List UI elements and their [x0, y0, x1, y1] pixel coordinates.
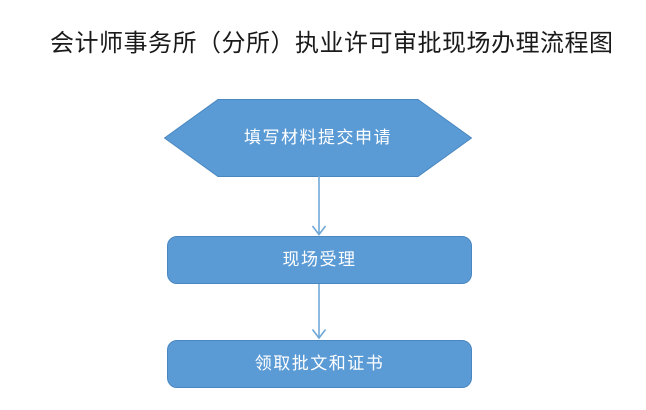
arrow-down-icon [306, 176, 332, 238]
flow-node-submit[interactable]: 填写材料提交申请 [164, 99, 472, 177]
flow-node-submit-label: 填写材料提交申请 [164, 99, 472, 177]
connector-submit-to-accept [306, 176, 332, 238]
flow-node-accept[interactable]: 现场受理 [167, 236, 472, 284]
connector-accept-to-collect [306, 284, 332, 342]
flow-node-collect[interactable]: 领取批文和证书 [167, 340, 472, 388]
page-title: 会计师事务所（分所）执业许可审批现场办理流程图 [50, 28, 610, 58]
arrow-down-icon [306, 284, 332, 342]
flow-node-collect-label: 领取批文和证书 [255, 356, 385, 373]
flow-node-accept-label: 现场受理 [283, 252, 357, 269]
flowchart-page: 会计师事务所（分所）执业许可审批现场办理流程图 填写材料提交申请 现场受理 领取… [0, 0, 646, 410]
